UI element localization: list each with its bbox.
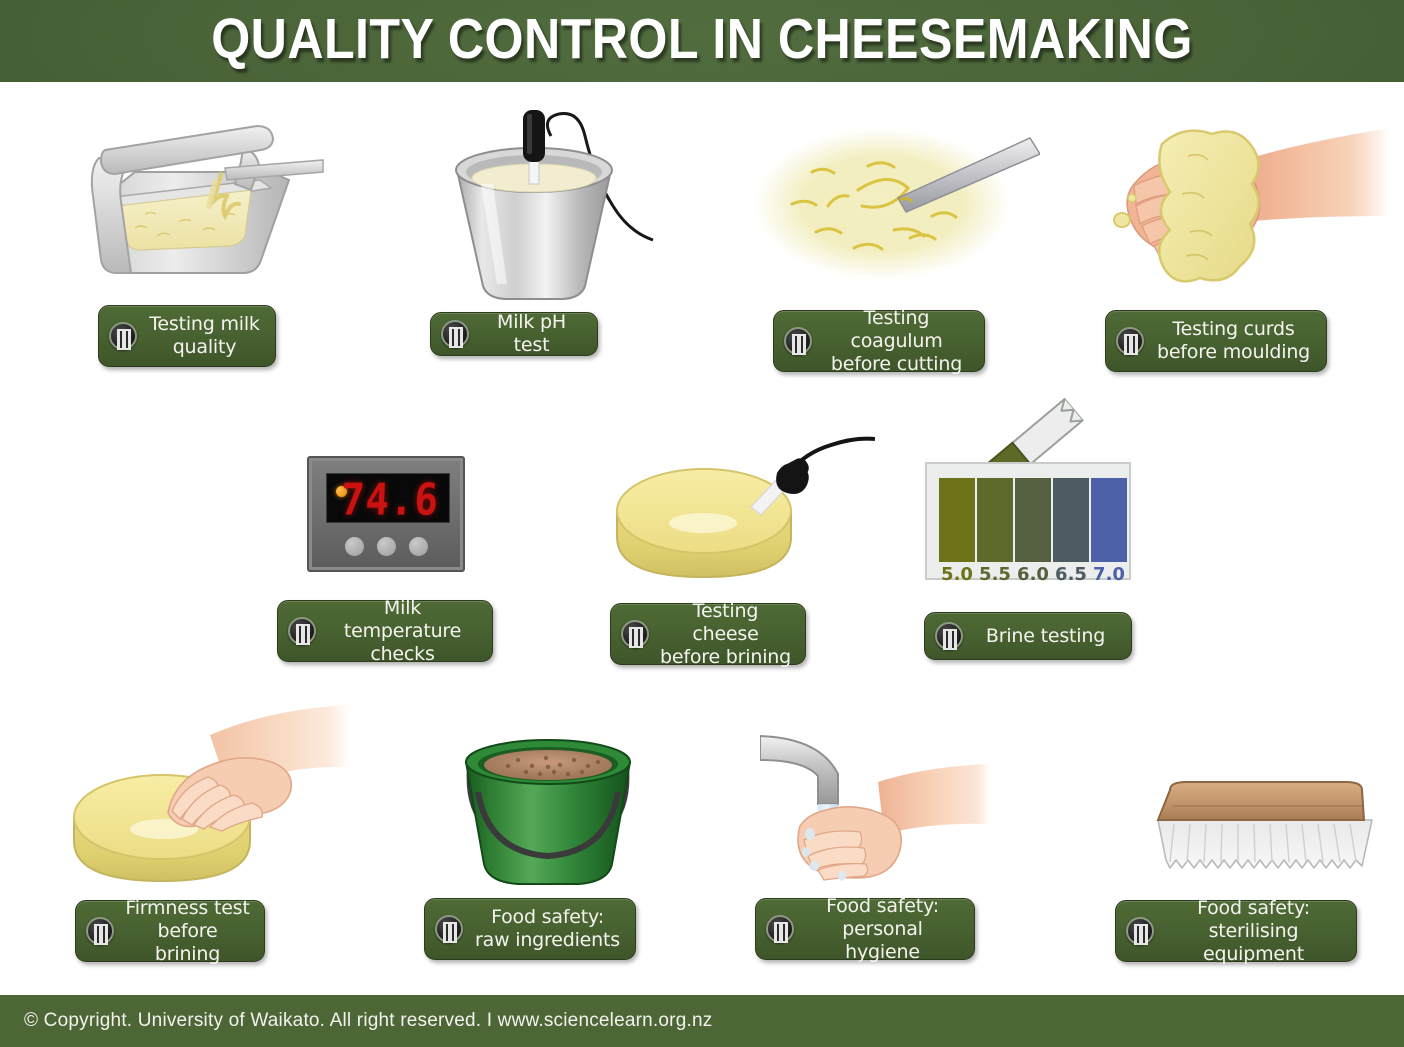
cheese-wheel-probe-illustration (595, 425, 875, 600)
badge-testing-cheese-before-brining[interactable]: Testing cheese before brining (610, 603, 806, 665)
badge-milk-temperature-checks[interactable]: Milk temperature checks (277, 600, 493, 662)
badge-label: Milk pH test (480, 311, 583, 357)
image-icon (621, 620, 649, 648)
badge-testing-curds[interactable]: Testing curds before moulding (1105, 310, 1327, 372)
panel-testing-cheese-before-brining: Testing cheese before brining (595, 420, 875, 670)
badge-food-safety-personal-hygiene[interactable]: Food safety: personal hygiene (755, 898, 975, 960)
badge-testing-coagulum[interactable]: Testing coagulum before cutting (773, 310, 985, 372)
panel-brine-testing: 5.0 5.5 6.0 6.5 7.0 Brine testing (915, 390, 1165, 670)
badge-label: Firmness test before brining (125, 897, 250, 966)
badge-label: Food safety: sterilising equipment (1165, 897, 1342, 966)
page-title: QUALITY CONTROL IN CHEESEMAKING (84, 6, 1320, 72)
image-icon (935, 622, 963, 650)
image-icon (1126, 917, 1154, 945)
ph-swatch-5-5 (977, 478, 1013, 562)
hand-pressing-cheese-illustration (60, 705, 350, 895)
ph-label-7-0: 7.0 (1089, 564, 1129, 585)
badge-food-safety-sterilising[interactable]: Food safety: sterilising equipment (1115, 900, 1357, 962)
badge-testing-milk-quality[interactable]: Testing milk quality (98, 305, 276, 367)
ph-swatch-7-0 (1091, 478, 1127, 562)
badge-label: Testing coagulum before cutting (823, 307, 970, 376)
coagulum-surface-probe-illustration (750, 120, 1040, 300)
scrubbing-brush-illustration (1150, 780, 1380, 890)
ph-swatch-5-0 (939, 478, 975, 562)
panel-food-safety-personal-hygiene: Food safety: personal hygiene (750, 730, 1010, 970)
panel-milk-ph-test: Milk pH test (425, 100, 685, 380)
image-icon (288, 617, 316, 645)
panel-testing-coagulum: Testing coagulum before cutting (750, 110, 1040, 390)
tap-washing-hands-illustration (760, 730, 990, 890)
badge-food-safety-raw-ingredients[interactable]: Food safety: raw ingredients (424, 898, 636, 960)
panel-firmness-test: Firmness test before brining (55, 700, 355, 970)
ph-label-6-0: 6.0 (1013, 564, 1053, 585)
image-icon (766, 915, 794, 943)
image-icon (441, 320, 469, 348)
ph-swatch-6-0 (1015, 478, 1051, 562)
image-icon (86, 917, 114, 945)
footer-band: © Copyright. University of Waikato. All … (0, 995, 1404, 1047)
badge-firmness-test[interactable]: Firmness test before brining (75, 900, 265, 962)
badge-label: Testing curds before moulding (1155, 318, 1312, 364)
badge-label: Testing milk quality (148, 313, 261, 359)
temperature-screen: 74.6 (326, 473, 450, 523)
controller-button-2[interactable] (377, 537, 396, 556)
ph-label-5-0: 5.0 (937, 564, 977, 585)
temperature-value: 74.6 (340, 475, 440, 525)
image-icon (1116, 327, 1144, 355)
milk-vat-filler-illustration (75, 110, 325, 310)
badge-label: Food safety: raw ingredients (474, 906, 621, 952)
panel-milk-temperature-checks: 74.6 Milk temperature checks (275, 440, 545, 670)
copyright-text: © Copyright. University of Waikato. All … (24, 1010, 712, 1032)
badge-label: Food safety: personal hygiene (805, 895, 960, 964)
temperature-controller: 74.6 (307, 456, 465, 572)
hand-squeezing-curds-illustration (1100, 120, 1390, 310)
image-icon (109, 322, 137, 350)
panel-food-safety-raw-ingredients: Food safety: raw ingredients (420, 730, 680, 970)
ph-swatch-6-5 (1053, 478, 1089, 562)
badge-label: Testing cheese before brining (660, 600, 791, 669)
panel-testing-curds: Testing curds before moulding (1090, 110, 1390, 390)
badge-label: Milk temperature checks (327, 597, 478, 666)
controller-button-3[interactable] (409, 537, 428, 556)
controller-button-1[interactable] (345, 537, 364, 556)
badge-label: Brine testing (974, 625, 1117, 648)
image-icon (435, 915, 463, 943)
milk-bucket-probe-illustration (435, 108, 675, 308)
image-icon (784, 327, 812, 355)
panel-testing-milk-quality: Testing milk quality (70, 100, 340, 380)
panel-food-safety-sterilising: Food safety: sterilising equipment (1105, 760, 1395, 980)
ph-colour-chart: 5.0 5.5 6.0 6.5 7.0 (925, 462, 1131, 580)
ph-label-6-5: 6.5 (1051, 564, 1091, 585)
header-band: QUALITY CONTROL IN CHEESEMAKING (0, 0, 1404, 82)
badge-brine-testing[interactable]: Brine testing (924, 612, 1132, 660)
badge-milk-ph-test[interactable]: Milk pH test (430, 312, 598, 356)
ph-label-5-5: 5.5 (975, 564, 1015, 585)
green-bucket-ingredients-illustration (448, 734, 648, 894)
